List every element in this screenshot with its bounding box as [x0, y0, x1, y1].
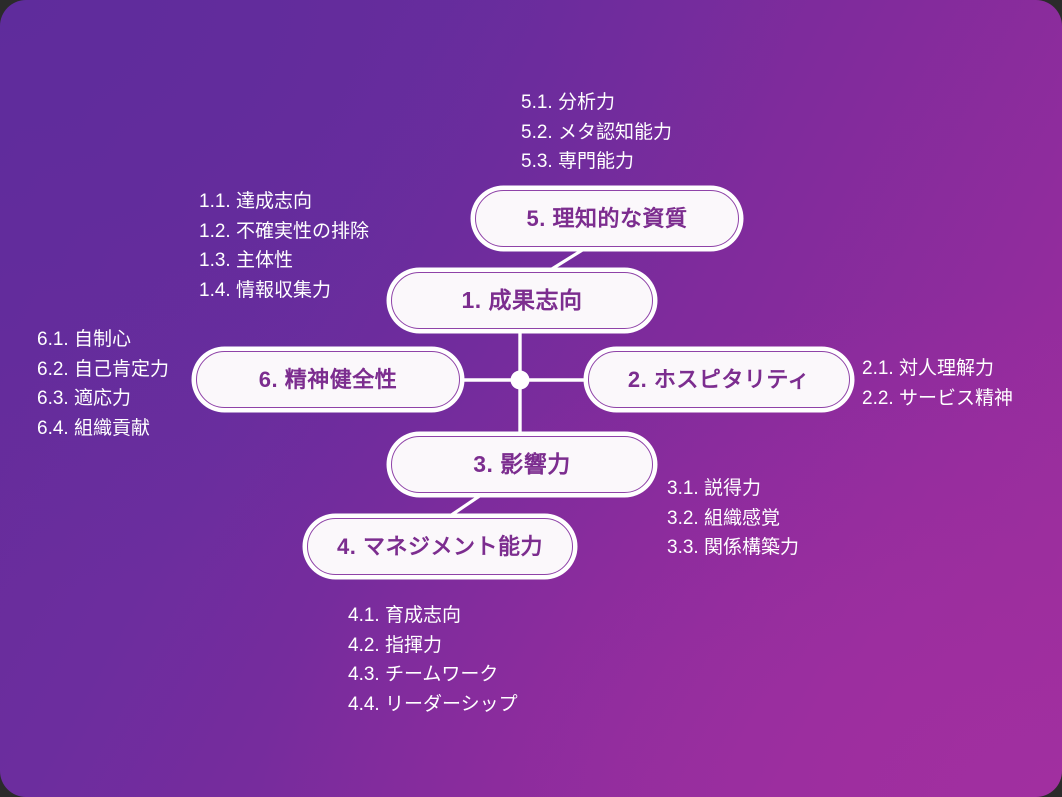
leaf-group-3: 3.1. 説得力 3.2. 組織感覚 3.3. 関係構築力: [667, 474, 799, 563]
node-5-label: 5. 理知的な資質: [527, 208, 688, 230]
leaf-item: 6.4. 組織貢献: [37, 414, 169, 444]
leaf-item: 1.2. 不確実性の排除: [199, 217, 369, 247]
node-2-label: 2. ホスピタリティ: [628, 369, 810, 391]
node-3-label: 3. 影響力: [473, 453, 571, 476]
leaf-item: 3.1. 説得力: [667, 474, 799, 504]
node-1-results-orientation[interactable]: 1. 成果志向: [391, 272, 653, 329]
node-2-hospitality[interactable]: 2. ホスピタリティ: [588, 351, 850, 408]
leaf-item: 3.3. 関係構築力: [667, 533, 799, 563]
leaf-group-5: 5.1. 分析力 5.2. メタ認知能力 5.3. 専門能力: [521, 88, 672, 177]
node-4-management-ability[interactable]: 4. マネジメント能力: [307, 518, 573, 575]
node-3-influence[interactable]: 3. 影響力: [391, 436, 653, 493]
leaf-group-4: 4.1. 育成志向 4.2. 指揮力 4.3. チームワーク 4.4. リーダー…: [348, 601, 518, 719]
leaf-item: 1.3. 主体性: [199, 246, 369, 276]
leaf-item: 1.1. 達成志向: [199, 187, 369, 217]
leaf-item: 5.2. メタ認知能力: [521, 118, 672, 148]
connector-node3-node4: [447, 495, 481, 518]
leaf-item: 1.4. 情報収集力: [199, 276, 369, 306]
leaf-item: 2.1. 対人理解力: [862, 354, 1013, 384]
mindmap-canvas: 5. 理知的な資質 1. 成果志向 6. 精神健全性 2. ホスピタリティ 3.…: [0, 0, 1062, 797]
leaf-item: 6.3. 適応力: [37, 384, 169, 414]
connector-node5-node1: [547, 249, 584, 272]
node-5-intellectual-qualities[interactable]: 5. 理知的な資質: [475, 190, 739, 247]
leaf-item: 2.2. サービス精神: [862, 384, 1013, 414]
leaf-group-2: 2.1. 対人理解力 2.2. サービス精神: [862, 354, 1013, 413]
leaf-group-1: 1.1. 達成志向 1.2. 不確実性の排除 1.3. 主体性 1.4. 情報収…: [199, 187, 369, 305]
leaf-item: 3.2. 組織感覚: [667, 504, 799, 534]
leaf-item: 6.1. 自制心: [37, 325, 169, 355]
leaf-item: 5.3. 専門能力: [521, 147, 672, 177]
leaf-item: 5.1. 分析力: [521, 88, 672, 118]
leaf-item: 4.3. チームワーク: [348, 660, 518, 690]
node-4-label: 4. マネジメント能力: [337, 536, 543, 558]
node-6-label: 6. 精神健全性: [259, 369, 397, 391]
node-6-mental-health[interactable]: 6. 精神健全性: [196, 351, 460, 408]
leaf-group-6: 6.1. 自制心 6.2. 自己肯定力 6.3. 適応力 6.4. 組織貢献: [37, 325, 169, 443]
hub-dot: [511, 371, 530, 390]
leaf-item: 6.2. 自己肯定力: [37, 355, 169, 385]
leaf-item: 4.1. 育成志向: [348, 601, 518, 631]
leaf-item: 4.4. リーダーシップ: [348, 690, 518, 720]
leaf-item: 4.2. 指揮力: [348, 631, 518, 661]
node-1-label: 1. 成果志向: [461, 289, 582, 312]
